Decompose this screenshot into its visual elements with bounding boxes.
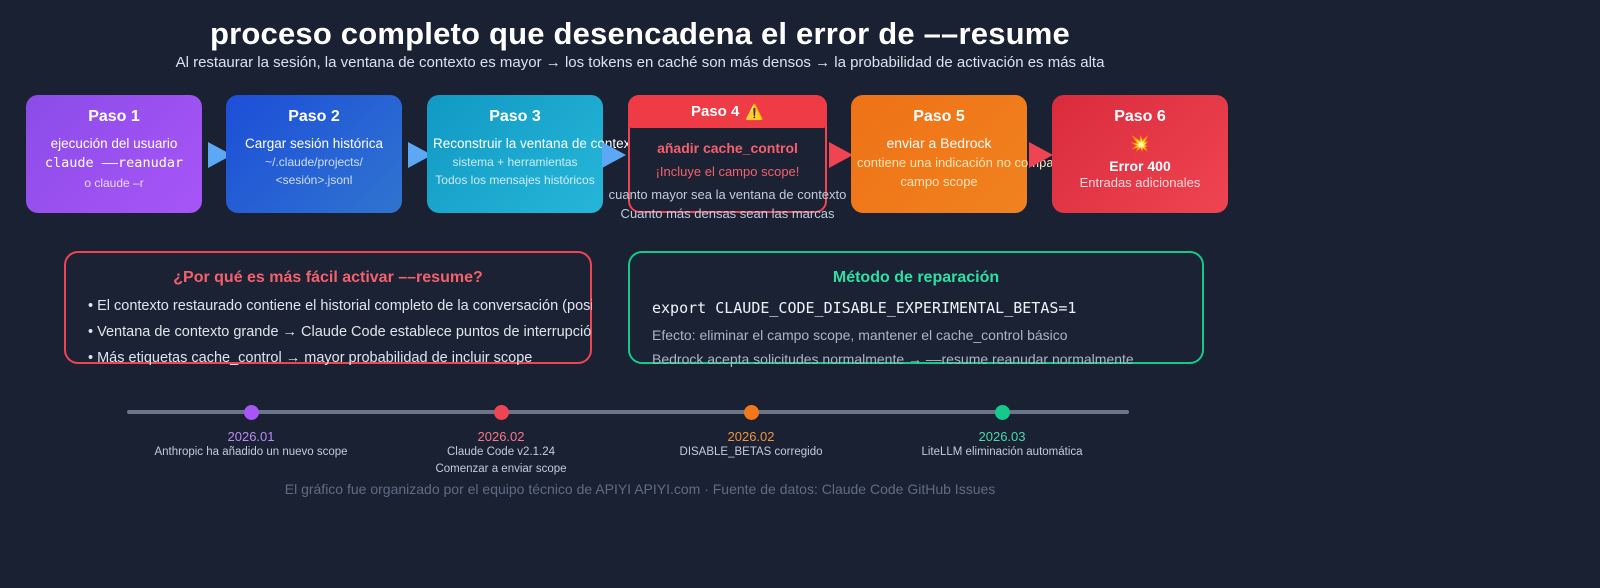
step-2-file: <sesión>.jsonl xyxy=(232,171,396,189)
flow-step-6[interactable]: Paso 6 💥 Error 400 Entradas adicionales xyxy=(1052,95,1228,213)
step-3-title: Paso 3 xyxy=(433,107,597,127)
step-4-header: Paso 4 ⚠️ xyxy=(628,95,827,128)
step-2-path: ~/.claude/projects/ xyxy=(232,153,396,171)
step-5-sub1: contiene una indicación no compatible xyxy=(857,153,1021,172)
panel-why-resume: ¿Por qué es más fácil activar ––resume? … xyxy=(64,251,592,364)
timeline-desc: DISABLE_BETAS corregido xyxy=(651,444,851,461)
arrow-step5-to-step6-icon xyxy=(1029,142,1053,168)
step-1-title: Paso 1 xyxy=(32,107,196,127)
panel-why-bullet: • Ventana de contexto grande → Claude Co… xyxy=(88,319,590,345)
step-4-note: ¡Incluye el campo scope! xyxy=(630,158,825,186)
arrow-step3-to-step4-icon xyxy=(602,142,626,168)
timeline-dot-icon xyxy=(494,405,509,420)
step-5-title: Paso 5 xyxy=(857,107,1021,127)
timeline-dot-icon xyxy=(744,405,759,420)
step-6-title: Paso 6 xyxy=(1058,107,1222,127)
step-5-sub2: campo scope xyxy=(857,172,1021,191)
timeline-year: 2026.03 xyxy=(902,429,1102,444)
timeline-desc: Comenzar a enviar scope xyxy=(401,461,601,478)
arrow-step4-to-step5-icon xyxy=(829,142,853,168)
step-1-command: claude ––reanudar xyxy=(32,153,196,174)
panel-why-body: • El contexto restaurado contiene el his… xyxy=(66,287,590,371)
step-4-overflow-line2: Cuanto más densas sean las marcas xyxy=(621,204,835,223)
explosion-icon: 💥 xyxy=(1058,134,1222,154)
timeline-desc: Claude Code v2.1.24 xyxy=(401,444,601,461)
timeline-node[interactable]: 2026.02 Claude Code v2.1.24 Comenzar a e… xyxy=(401,400,601,478)
timeline-dot-icon xyxy=(244,405,259,420)
step-4-overflow-line1: cuanto mayor sea la ventana de contexto xyxy=(609,185,847,204)
step-3-sub2: Todos los mensajes históricos xyxy=(433,171,597,189)
warning-triangle-icon: ⚠️ xyxy=(745,103,764,121)
step-3-sub1: sistema + herramientas xyxy=(433,153,597,171)
timeline-desc: LiteLLM eliminación automática xyxy=(902,444,1102,461)
panel-why-bullet: • Más etiquetas cache_control → mayor pr… xyxy=(88,345,590,371)
flow-step-2[interactable]: Paso 2 Cargar sesión histórica ~/.claude… xyxy=(226,95,402,213)
panel-fix-command[interactable]: export CLAUDE_CODE_DISABLE_EXPERIMENTAL_… xyxy=(652,293,1202,323)
panel-why-bullet: • El contexto restaurado contiene el his… xyxy=(88,293,590,319)
panel-repair-method: Método de reparación export CLAUDE_CODE_… xyxy=(628,251,1204,364)
timeline-year: 2026.02 xyxy=(651,429,851,444)
step-1-line1: ejecución del usuario xyxy=(32,134,196,153)
credit-line: El gráfico fue organizado por el equipo … xyxy=(0,481,1280,497)
flow-step-1[interactable]: Paso 1 ejecución del usuario claude ––re… xyxy=(26,95,202,213)
flow-diagram: Paso 1 ejecución del usuario claude ––re… xyxy=(0,95,1600,220)
timeline-dot-icon xyxy=(995,405,1010,420)
step-6-sub: Entradas adicionales xyxy=(1058,174,1222,192)
step-4-head: añadir cache_control xyxy=(630,138,825,158)
panel-fix-note2: Bedrock acepta solicitudes normalmente →… xyxy=(652,347,1202,371)
timeline-node[interactable]: 2026.02 DISABLE_BETAS corregido xyxy=(651,400,851,461)
step-6-error-code: Error 400 xyxy=(1058,158,1222,174)
flow-step-4[interactable]: Paso 4 ⚠️ añadir cache_control ¡Incluye … xyxy=(628,95,827,213)
flow-step-3[interactable]: Paso 3 Reconstruir la ventana de context… xyxy=(427,95,603,213)
timeline: 2026.01 Anthropic ha añadido un nuevo sc… xyxy=(0,400,1280,480)
timeline-node[interactable]: 2026.03 LiteLLM eliminación automática xyxy=(902,400,1102,461)
step-4-title: Paso 4 xyxy=(691,103,739,120)
timeline-year: 2026.01 xyxy=(151,429,351,444)
timeline-year: 2026.02 xyxy=(401,429,601,444)
panel-why-title: ¿Por qué es más fácil activar ––resume? xyxy=(66,269,590,287)
step-3-line1: Reconstruir la ventana de contexto compl… xyxy=(433,134,597,153)
flow-step-5[interactable]: Paso 5 enviar a Bedrock contiene una ind… xyxy=(851,95,1027,213)
step-2-title: Paso 2 xyxy=(232,107,396,127)
page-title: proceso completo que desencadena el erro… xyxy=(0,16,1280,52)
panel-fix-title: Método de reparación xyxy=(630,269,1202,287)
step-2-line1: Cargar sesión histórica xyxy=(232,134,396,153)
timeline-node[interactable]: 2026.01 Anthropic ha añadido un nuevo sc… xyxy=(151,400,351,461)
panel-fix-note1: Efecto: eliminar el campo scope, mantene… xyxy=(652,323,1202,347)
infographic-canvas: proceso completo que desencadena el erro… xyxy=(0,0,1600,588)
step-5-line1: enviar a Bedrock xyxy=(857,134,1021,153)
page-subtitle: Al restaurar la sesión, la ventana de co… xyxy=(0,54,1280,71)
timeline-desc: Anthropic ha añadido un nuevo scope xyxy=(151,444,351,461)
step-1-sub: o claude –r xyxy=(32,174,196,192)
panel-fix-body: export CLAUDE_CODE_DISABLE_EXPERIMENTAL_… xyxy=(630,287,1202,371)
